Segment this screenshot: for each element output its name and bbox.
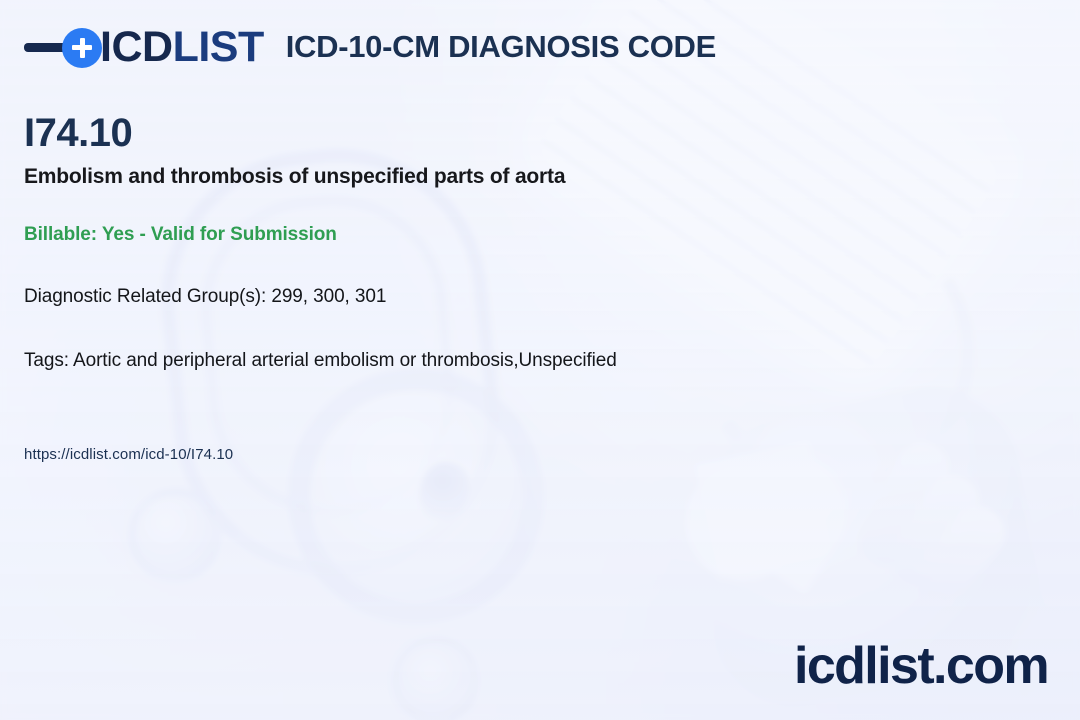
billable-status: Billable: Yes - Valid for Submission	[24, 224, 337, 246]
code-tags: Tags: Aortic and peripheral arterial emb…	[24, 350, 617, 372]
plus-horizontal-stroke	[72, 45, 92, 50]
card-content: ICDLIST ICD-10-CM DIAGNOSIS CODE I74.10 …	[0, 0, 1080, 720]
footer-wordmark: icdlist.com	[794, 640, 1048, 692]
diagnosis-description: Embolism and thrombosis of unspecified p…	[24, 165, 565, 189]
source-url-link[interactable]: https://icdlist.com/icd-10/I74.10	[24, 446, 233, 463]
brand-word-secondary: LIST	[173, 23, 264, 71]
brand-word-primary: ICD	[100, 23, 173, 71]
diagnosis-code: I74.10	[24, 112, 132, 154]
icd-code-card: ICDLIST ICD-10-CM DIAGNOSIS CODE I74.10 …	[0, 0, 1080, 720]
header: ICDLIST ICD-10-CM DIAGNOSIS CODE	[24, 26, 716, 69]
plus-circle-icon	[62, 28, 102, 68]
icdlist-logo[interactable]: ICDLIST	[24, 26, 264, 69]
brand-wordmark: ICDLIST	[100, 26, 264, 69]
diagnostic-related-groups: Diagnostic Related Group(s): 299, 300, 3…	[24, 286, 386, 308]
page-title: ICD-10-CM DIAGNOSIS CODE	[286, 31, 716, 64]
